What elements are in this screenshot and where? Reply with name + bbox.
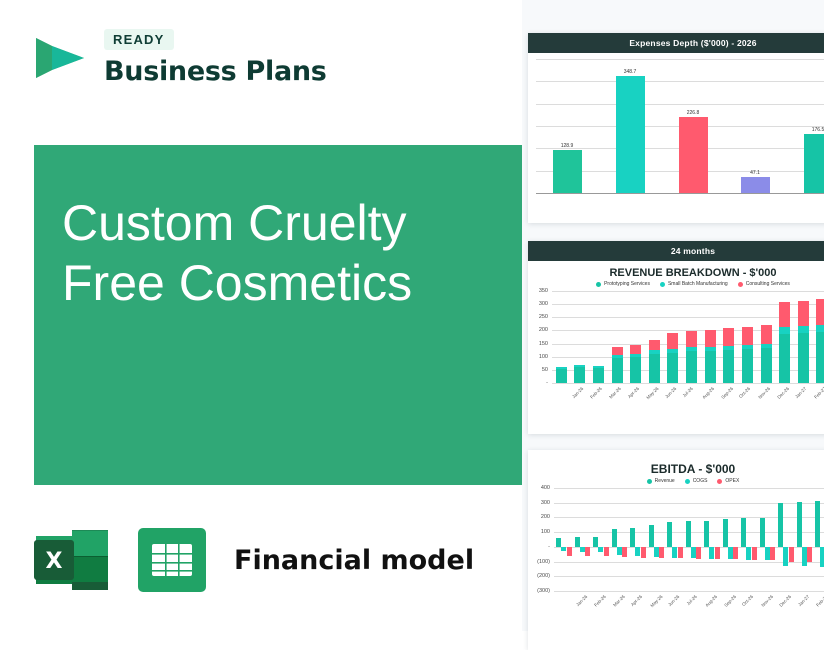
bar-opex [807, 547, 812, 562]
legend-label: Revenue [655, 478, 675, 484]
bar-cogs [635, 547, 640, 556]
chart-plot-ebitda: 400300200100-(100)(200)(300)Jan-26Feb-26… [554, 488, 824, 613]
chart-body-expenses: 128.9348.7226.847.1176.5 [528, 59, 824, 207]
bar-cogs [672, 547, 677, 558]
bar-opex [585, 547, 590, 556]
legend-item: COGS [685, 478, 708, 484]
bar-segment [630, 357, 641, 383]
chart-title-expenses: Expenses Depth ($'000) - 2026 [528, 33, 824, 53]
x-axis-tick: Feb-27 [815, 594, 824, 608]
bar-segment [574, 367, 585, 383]
bar-segment [630, 354, 641, 357]
brand-name: Business Plans [104, 56, 327, 87]
bar [741, 177, 770, 193]
bar-revenue [797, 502, 802, 547]
y-axis-tick: 200 [530, 514, 550, 520]
legend-item: Consulting Services [738, 281, 790, 287]
legend-item: Revenue [647, 478, 675, 484]
bar-segment [798, 326, 809, 333]
bar-segment [761, 325, 772, 344]
bar-cogs [746, 547, 751, 560]
bar-revenue [723, 519, 728, 547]
x-axis-tick: Jul-26 [686, 594, 698, 606]
bar-opex [567, 547, 572, 556]
bar-segment [742, 327, 753, 345]
brand-text: READY Business Plans [104, 29, 327, 87]
bar-revenue [630, 528, 635, 547]
legend-swatch [738, 282, 743, 287]
chart-plot-revenue: 35030025020015010050-Jan-26Feb-26Mar-26A… [552, 291, 824, 401]
x-axis-tick: Jun-26 [667, 594, 680, 607]
gridline [536, 104, 824, 105]
bar-segment [556, 367, 567, 369]
bar-segment [649, 354, 660, 383]
x-axis-tick: Sep-26 [723, 594, 737, 608]
bar-segment [742, 345, 753, 349]
x-axis-tick: Apr-26 [627, 386, 640, 399]
excel-file-icon: X [34, 522, 110, 598]
x-axis-tick: Apr-26 [630, 594, 643, 607]
bar-opex [622, 547, 627, 557]
x-axis-tick: Jan-27 [797, 594, 810, 607]
page-title-line2: Free Cosmetics [62, 253, 502, 313]
y-axis-tick: 300 [530, 301, 548, 307]
bar-segment [798, 333, 809, 383]
bar-segment [816, 325, 824, 332]
x-axis-tick: Jan-26 [571, 386, 584, 399]
bar-cogs [709, 547, 714, 559]
x-axis-tick: Dec-26 [776, 386, 790, 400]
chart-title-revenue: REVENUE BREAKDOWN - $'000 [528, 261, 824, 279]
bar-segment [798, 301, 809, 326]
legend-label: Small Batch Manufacturing [668, 281, 728, 287]
gridline [554, 591, 824, 592]
x-axis-tick: Sep-26 [720, 386, 734, 400]
x-axis-tick: Jul-26 [682, 386, 694, 398]
x-axis-tick: Feb-26 [589, 386, 603, 400]
x-axis-tick: Dec-26 [778, 594, 792, 608]
bar-revenue [649, 525, 654, 547]
bar-opex [770, 547, 775, 560]
bar-segment [723, 346, 734, 350]
bar-segment [667, 353, 678, 383]
hero-panel: Custom Cruelty Free Cosmetics [34, 145, 522, 485]
bar-revenue [778, 503, 783, 547]
y-axis-tick: 300 [530, 500, 550, 506]
bar-opex [733, 547, 738, 559]
x-axis-tick: Aug-26 [704, 594, 718, 608]
x-axis-tick: Feb-26 [593, 594, 607, 608]
gridline [554, 488, 824, 489]
bar-segment [612, 358, 623, 383]
chart-card-revenue: 24 months REVENUE BREAKDOWN - $'000 Prot… [528, 241, 824, 434]
bar-segment [686, 347, 697, 351]
y-axis-tick: 150 [530, 341, 548, 347]
bar-revenue [593, 537, 598, 547]
gridline [552, 383, 824, 384]
bar-opex [641, 547, 646, 558]
bar-opex [696, 547, 701, 559]
legend-swatch [660, 282, 665, 287]
x-axis-tick: Oct-26 [741, 594, 754, 607]
bar-value-label: 176.5 [798, 127, 824, 133]
legend-item: OPEX [717, 478, 739, 484]
chart-plot-expenses: 128.9348.7226.847.1176.5 [536, 59, 824, 207]
bar-segment [705, 347, 716, 351]
gridline [554, 576, 824, 577]
gridline [552, 291, 824, 292]
legend-swatch [685, 479, 690, 484]
bar-opex [678, 547, 683, 558]
bar-segment [705, 351, 716, 383]
legend-item: Small Batch Manufacturing [660, 281, 728, 287]
chart-body-ebitda: 400300200100-(100)(200)(300)Jan-26Feb-26… [528, 488, 824, 613]
bar-revenue [704, 521, 709, 547]
y-axis-tick: - [530, 380, 548, 386]
svg-text:X: X [46, 549, 63, 574]
bar-opex [789, 547, 794, 562]
bar-segment [649, 350, 660, 354]
financial-model-label: Financial model [234, 545, 474, 576]
y-axis-tick: - [530, 544, 550, 550]
x-axis-tick: Nov-26 [757, 386, 771, 400]
bar-revenue [575, 537, 580, 547]
y-axis-tick: 100 [530, 529, 550, 535]
y-axis-tick: 50 [530, 367, 548, 373]
bar-opex [604, 547, 609, 556]
bar-value-label: 348.7 [610, 69, 650, 75]
bar-segment [686, 351, 697, 383]
bar-revenue [686, 521, 691, 547]
chart-title-ebitda: EBITDA - $'000 [528, 450, 824, 476]
legend-item: Prototyping Services [596, 281, 650, 287]
x-axis-tick: Oct-26 [738, 386, 751, 399]
gridline [554, 503, 824, 504]
brand-logo: READY Business Plans [30, 28, 327, 88]
bar-segment [630, 345, 641, 354]
bar-segment [556, 369, 567, 383]
legend-swatch [647, 479, 652, 484]
page-title: Custom Cruelty Free Cosmetics [62, 193, 502, 313]
bar-opex [659, 547, 664, 558]
legend-label: OPEX [725, 478, 739, 484]
bar-segment [779, 327, 790, 334]
bar-opex [752, 547, 757, 560]
bar [679, 117, 708, 193]
bar-segment [742, 349, 753, 383]
x-axis-tick: Jan-26 [575, 594, 588, 607]
chart-header-revenue: 24 months [528, 241, 824, 261]
x-axis-tick: Mar-26 [608, 386, 622, 400]
y-axis-tick: 400 [530, 485, 550, 491]
gridline [536, 81, 824, 82]
bar [804, 134, 824, 193]
bar-revenue [556, 538, 561, 547]
bar-segment [723, 350, 734, 383]
bar-cogs [598, 547, 603, 552]
bar-segment [593, 368, 604, 383]
x-axis-tick: Aug-26 [701, 386, 715, 400]
footer-icons: X Financial model [34, 522, 474, 598]
chart-card-ebitda: EBITDA - $'000 RevenueCOGSOPEX 400300200… [528, 450, 824, 650]
bar-revenue [815, 501, 820, 547]
chart-card-expenses: Expenses Depth ($'000) - 2026 128.9348.7… [528, 33, 824, 223]
bar-segment [612, 355, 623, 358]
play-triangle-logo-icon [30, 28, 90, 88]
x-axis-tick: May-26 [646, 386, 660, 400]
bar-segment [612, 347, 623, 355]
google-sheets-icon [134, 522, 210, 598]
y-axis-tick: (200) [530, 573, 550, 579]
page-title-line1: Custom Cruelty [62, 193, 502, 253]
bar-segment [574, 365, 585, 367]
bar-segment [667, 333, 678, 349]
bar-cogs [561, 547, 566, 551]
x-axis-tick: Nov-26 [760, 594, 774, 608]
y-axis-tick: 100 [530, 354, 548, 360]
bar-segment [686, 331, 697, 347]
bar [616, 76, 645, 193]
x-axis-tick: Feb-27 [813, 386, 824, 400]
gridline [554, 517, 824, 518]
chart-legend-ebitda: RevenueCOGSOPEX [528, 478, 824, 484]
legend-swatch [717, 479, 722, 484]
chart-body-revenue: 35030025020015010050-Jan-26Feb-26Mar-26A… [528, 291, 824, 401]
chart-legend-revenue: Prototyping ServicesSmall Batch Manufact… [528, 281, 824, 287]
y-axis-tick: 250 [530, 314, 548, 320]
y-axis-tick: 350 [530, 288, 548, 294]
bar-segment [761, 348, 772, 383]
bar-opex [715, 547, 720, 559]
bar-segment [667, 349, 678, 353]
y-axis-tick: (100) [530, 559, 550, 565]
x-axis-tick: Jan-27 [794, 386, 807, 399]
y-axis-tick: (300) [530, 588, 550, 594]
bar-segment [779, 334, 790, 383]
ready-badge: READY [104, 29, 174, 50]
bar-value-label: 47.1 [735, 170, 775, 176]
legend-swatch [596, 282, 601, 287]
bar-segment [593, 366, 604, 368]
x-axis-tick: May-26 [649, 594, 663, 608]
legend-label: COGS [693, 478, 708, 484]
bar-value-label: 226.8 [673, 110, 713, 116]
bar-segment [816, 299, 824, 325]
bar-cogs [783, 547, 788, 566]
bar-revenue [612, 529, 617, 547]
bar-cogs [820, 547, 824, 567]
x-axis-tick: Jun-26 [664, 386, 677, 399]
y-axis-tick: 200 [530, 327, 548, 333]
legend-label: Consulting Services [746, 281, 790, 287]
legend-label: Prototyping Services [604, 281, 650, 287]
axis-line [536, 193, 824, 194]
bar-segment [779, 302, 790, 327]
bar-value-label: 128.9 [547, 143, 587, 149]
gridline [536, 59, 824, 60]
bar-segment [761, 344, 772, 348]
bar-revenue [760, 518, 765, 547]
bar-segment [723, 328, 734, 346]
bar-segment [705, 330, 716, 347]
bar-revenue [667, 522, 672, 547]
bar-segment [649, 340, 660, 350]
bar-segment [816, 332, 824, 383]
bar-revenue [741, 518, 746, 547]
bar [553, 150, 582, 193]
x-axis-tick: Mar-26 [612, 594, 626, 608]
